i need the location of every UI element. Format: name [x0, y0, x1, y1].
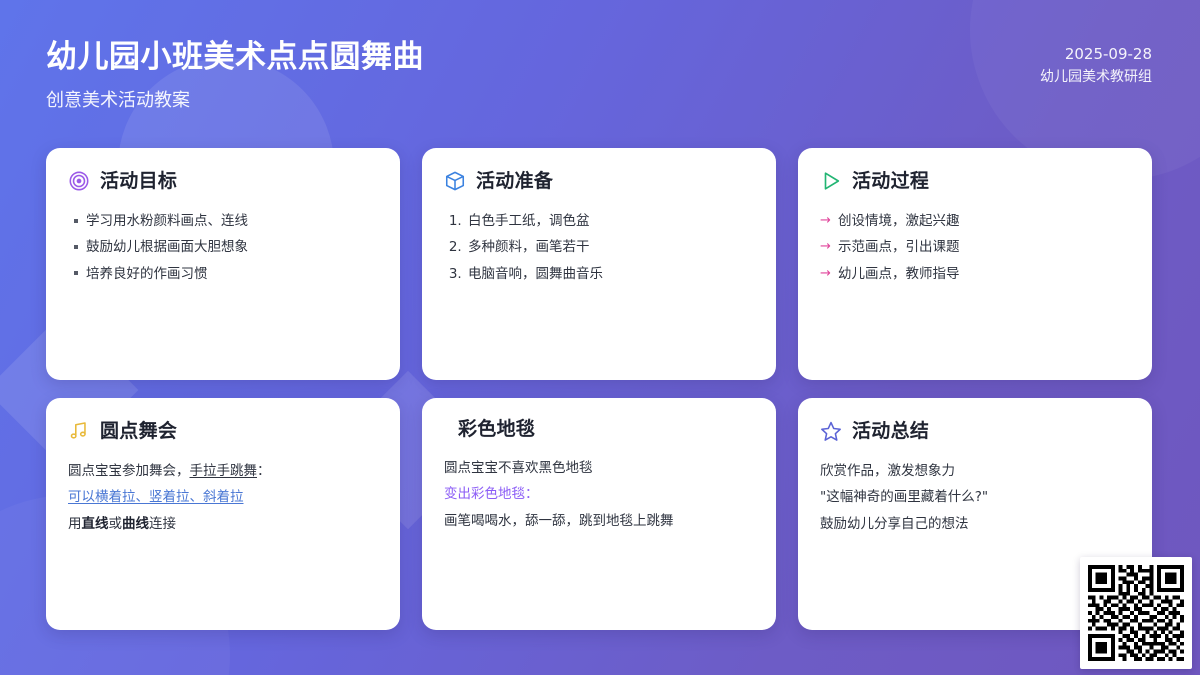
- card-title: 活动总结: [852, 422, 929, 441]
- card-title: 活动准备: [476, 172, 553, 191]
- slide-canvas: 幼儿园小班美术点点圆舞曲 创意美术活动教案 2025-09-28 幼儿园美术教研…: [0, 0, 1200, 675]
- text-tail: ：: [257, 463, 271, 479]
- arrow-icon: →: [820, 208, 831, 233]
- slide-header: 幼儿园小班美术点点圆舞曲 创意美术活动教案 2025-09-28 幼儿园美术教研…: [0, 0, 1200, 140]
- arrow-list: →创设情境，激起兴趣 →示范画点，引出课题 →幼儿画点，教师指导: [820, 208, 1130, 287]
- numbered-list: 白色手工纸，调色盆 多种颜料，画笔若干 电脑音响，圆舞曲音乐: [444, 208, 754, 287]
- qr-code-container[interactable]: [1080, 557, 1192, 669]
- list-item: →创设情境，激起兴趣: [820, 208, 1130, 234]
- text-bold-straight-line: 直线: [82, 516, 109, 532]
- card-body: →创设情境，激起兴趣 →示范画点，引出课题 →幼儿画点，教师指导: [820, 208, 1130, 287]
- text-line: 用直线或曲线连接: [68, 511, 378, 537]
- card-body: 白色手工纸，调色盆 多种颜料，画笔若干 电脑音响，圆舞曲音乐: [444, 208, 754, 287]
- text-mid: 或: [109, 516, 123, 532]
- header-date: 2025-09-28: [1040, 42, 1152, 66]
- text-line: 欣赏作品，激发想象力: [820, 458, 1130, 484]
- text-line: 鼓励幼儿分享自己的想法: [820, 511, 1130, 537]
- text-suffix: 连接: [149, 516, 176, 532]
- qr-code[interactable]: [1088, 565, 1184, 661]
- target-icon: [68, 170, 90, 192]
- list-item: 白色手工纸，调色盆: [466, 208, 754, 234]
- list-item: 电脑音响，圆舞曲音乐: [466, 261, 754, 287]
- card-title: 活动目标: [100, 172, 177, 191]
- card-body: 圆点宝宝参加舞会，手拉手跳舞： 可以横着拉、竖着拉、斜着拉 用直线或曲线连接: [68, 458, 378, 537]
- play-icon: [820, 170, 842, 192]
- card-process[interactable]: 活动过程 →创设情境，激起兴趣 →示范画点，引出课题 →幼儿画点，教师指导: [798, 148, 1152, 380]
- page-subtitle: 创意美术活动教案: [46, 92, 190, 110]
- list-item-label: 幼儿画点，教师指导: [838, 266, 960, 282]
- card-title: 活动过程: [852, 172, 929, 191]
- text-blue-underlined: 可以横着拉、竖着拉、斜着拉: [68, 489, 244, 505]
- card-header: 活动过程: [820, 170, 1130, 192]
- bullet-list: 学习用水粉颜料画点、连线 鼓励幼儿根据画面大胆想象 培养良好的作画习惯: [68, 208, 378, 287]
- card-body: 学习用水粉颜料画点、连线 鼓励幼儿根据画面大胆想象 培养良好的作画习惯: [68, 208, 378, 287]
- card-header: 圆点舞会: [68, 420, 378, 442]
- card-dot-ball[interactable]: 圆点舞会 圆点宝宝参加舞会，手拉手跳舞： 可以横着拉、竖着拉、斜着拉 用直线或曲…: [46, 398, 400, 630]
- text-underlined: 手拉手跳舞: [190, 463, 258, 479]
- text-line: 可以横着拉、竖着拉、斜着拉: [68, 484, 378, 510]
- card-title: 圆点舞会: [100, 422, 177, 441]
- text-line: "这幅神奇的画里藏着什么?": [820, 484, 1130, 510]
- page-title: 幼儿园小班美术点点圆舞曲: [46, 42, 424, 73]
- card-header: 活动总结: [820, 420, 1130, 442]
- card-body: 圆点宝宝不喜欢黑色地毯 变出彩色地毯： 画笔喝喝水，舔一舔，跳到地毯上跳舞: [444, 455, 754, 534]
- list-item: 鼓励幼儿根据画面大胆想象: [86, 234, 378, 260]
- arrow-icon: →: [820, 234, 831, 259]
- card-header: 彩色地毯: [444, 420, 754, 439]
- list-item: 培养良好的作画习惯: [86, 261, 378, 287]
- text-plain: 圆点宝宝参加舞会，: [68, 463, 190, 479]
- box-icon: [444, 170, 466, 192]
- card-body: 欣赏作品，激发想象力 "这幅神奇的画里藏着什么?" 鼓励幼儿分享自己的想法: [820, 458, 1130, 537]
- text-line: 圆点宝宝参加舞会，手拉手跳舞：: [68, 458, 378, 484]
- list-item: →幼儿画点，教师指导: [820, 261, 1130, 287]
- text-line: 圆点宝宝不喜欢黑色地毯: [444, 455, 754, 481]
- arrow-icon: →: [820, 261, 831, 286]
- card-header: 活动目标: [68, 170, 378, 192]
- text-line: 变出彩色地毯：: [444, 481, 754, 507]
- text-tail: ：: [525, 486, 539, 502]
- text-line: 画笔喝喝水，舔一舔，跳到地毯上跳舞: [444, 508, 754, 534]
- list-item: 学习用水粉颜料画点、连线: [86, 208, 378, 234]
- header-organization: 幼儿园美术教研组: [1040, 66, 1152, 88]
- star-icon: [820, 420, 842, 442]
- card-grid: 活动目标 学习用水粉颜料画点、连线 鼓励幼儿根据画面大胆想象 培养良好的作画习惯: [46, 148, 1154, 630]
- list-item: →示范画点，引出课题: [820, 234, 1130, 260]
- card-header: 活动准备: [444, 170, 754, 192]
- text-prefix: 用: [68, 516, 82, 532]
- list-item: 多种颜料，画笔若干: [466, 234, 754, 260]
- header-meta: 2025-09-28 幼儿园美术教研组: [1040, 42, 1152, 88]
- music-note-icon: [68, 420, 90, 442]
- text-bold-curved-line: 曲线: [122, 516, 149, 532]
- list-item-label: 示范画点，引出课题: [838, 239, 960, 255]
- text-purple-highlight: 变出彩色地毯: [444, 486, 525, 502]
- card-color-carpet[interactable]: 彩色地毯 圆点宝宝不喜欢黑色地毯 变出彩色地毯： 画笔喝喝水，舔一舔，跳到地毯上…: [422, 398, 776, 630]
- card-title: 彩色地毯: [458, 420, 535, 439]
- list-item-label: 创设情境，激起兴趣: [838, 213, 960, 229]
- card-goals[interactable]: 活动目标 学习用水粉颜料画点、连线 鼓励幼儿根据画面大胆想象 培养良好的作画习惯: [46, 148, 400, 380]
- card-preparation[interactable]: 活动准备 白色手工纸，调色盆 多种颜料，画笔若干 电脑音响，圆舞曲音乐: [422, 148, 776, 380]
